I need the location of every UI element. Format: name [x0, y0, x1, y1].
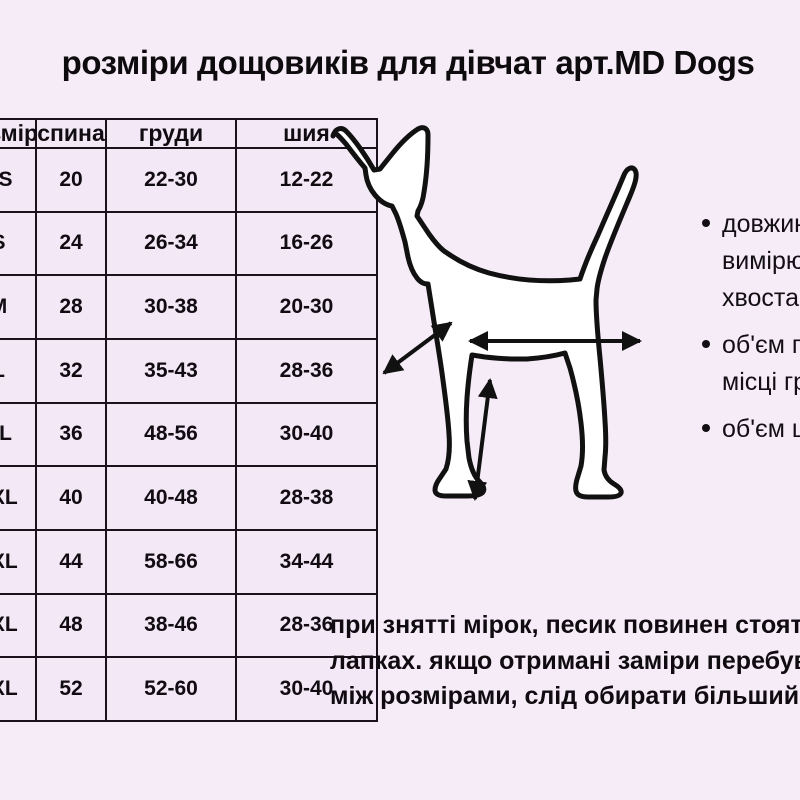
measurement-notes-list: довжина спинки вимірюється від шиї до хв… [700, 206, 800, 458]
list-item-label: довжина спинки вимірюється від шиї до хв… [722, 210, 800, 312]
table-header-row: розмір спина груди шия [0, 119, 377, 148]
cell-chest: 35-43 [106, 339, 236, 403]
cell-neck: 34-44 [236, 530, 377, 594]
dog-outline-shape [333, 128, 636, 497]
cell-chest: 40-48 [106, 466, 236, 530]
footnote-line: між розмірами, слід обирати більший [330, 679, 800, 715]
table-row: M 28 30-38 20-30 [0, 275, 377, 339]
cell-size: 3XL [0, 530, 36, 594]
size-table-body: XS 20 22-30 12-22 S 24 26-34 16-26 M 28 … [0, 148, 377, 721]
bullet-icon [702, 219, 710, 227]
cell-back: 40 [36, 466, 106, 530]
cell-back: 52 [36, 657, 106, 721]
page-title: розміри дощовиків для дівчат арт.MD Dogs [0, 44, 800, 82]
table-row: S 24 26-34 16-26 [0, 212, 377, 276]
cell-chest: 22-30 [106, 148, 236, 212]
cell-chest: 58-66 [106, 530, 236, 594]
list-item: об'єм шиї у місці нашийника [722, 411, 800, 448]
cell-back: 36 [36, 403, 106, 467]
cell-size: 4XL [0, 594, 36, 658]
cell-back: 24 [36, 212, 106, 276]
cell-chest: 38-46 [106, 594, 236, 658]
cell-back: 44 [36, 530, 106, 594]
cell-chest: 26-34 [106, 212, 236, 276]
cell-size: S [0, 212, 36, 276]
cell-size: M [0, 275, 36, 339]
bullet-icon [702, 340, 710, 348]
size-table-container: розмір спина груди шия XS 20 22-30 12-22… [0, 118, 306, 722]
list-item: об'єм грудей у найширшому місці грудної … [722, 327, 800, 401]
measurement-instructions: при знятті мірок, песик повинен стояти н… [330, 608, 800, 715]
bullet-icon [702, 424, 710, 432]
cell-back: 48 [36, 594, 106, 658]
cell-size: 5XL [0, 657, 36, 721]
table-row: L 32 35-43 28-36 [0, 339, 377, 403]
cell-chest: 48-56 [106, 403, 236, 467]
cell-size: L [0, 339, 36, 403]
cell-chest: 52-60 [106, 657, 236, 721]
list-item-label: об'єм грудей у найширшому місці грудної … [722, 331, 800, 396]
table-row: XL 36 48-56 30-40 [0, 403, 377, 467]
cell-size: 2XL [0, 466, 36, 530]
dog-measurement-diagram [322, 118, 712, 523]
table-row: 5XL 52 52-60 30-40 [0, 657, 377, 721]
footnote-line: лапках. якщо отримані заміри перебувають… [330, 644, 800, 680]
list-item: довжина спинки вимірюється від шиї до хв… [722, 206, 800, 317]
cell-back: 28 [36, 275, 106, 339]
column-header-size: розмір [0, 119, 36, 148]
footnote-line: при знятті мірок, песик повинен стояти н… [330, 608, 800, 644]
cell-size: XS [0, 148, 36, 212]
table-row: XS 20 22-30 12-22 [0, 148, 377, 212]
table-row: 4XL 48 38-46 28-36 [0, 594, 377, 658]
cell-size: XL [0, 403, 36, 467]
list-item-label: об'єм шиї у місці нашийника [722, 415, 800, 443]
table-row: 3XL 44 58-66 34-44 [0, 530, 377, 594]
column-header-chest: груди [106, 119, 236, 148]
table-row: 2XL 40 40-48 28-38 [0, 466, 377, 530]
cell-back: 20 [36, 148, 106, 212]
column-header-back: спина [36, 119, 106, 148]
cell-chest: 30-38 [106, 275, 236, 339]
cell-back: 32 [36, 339, 106, 403]
